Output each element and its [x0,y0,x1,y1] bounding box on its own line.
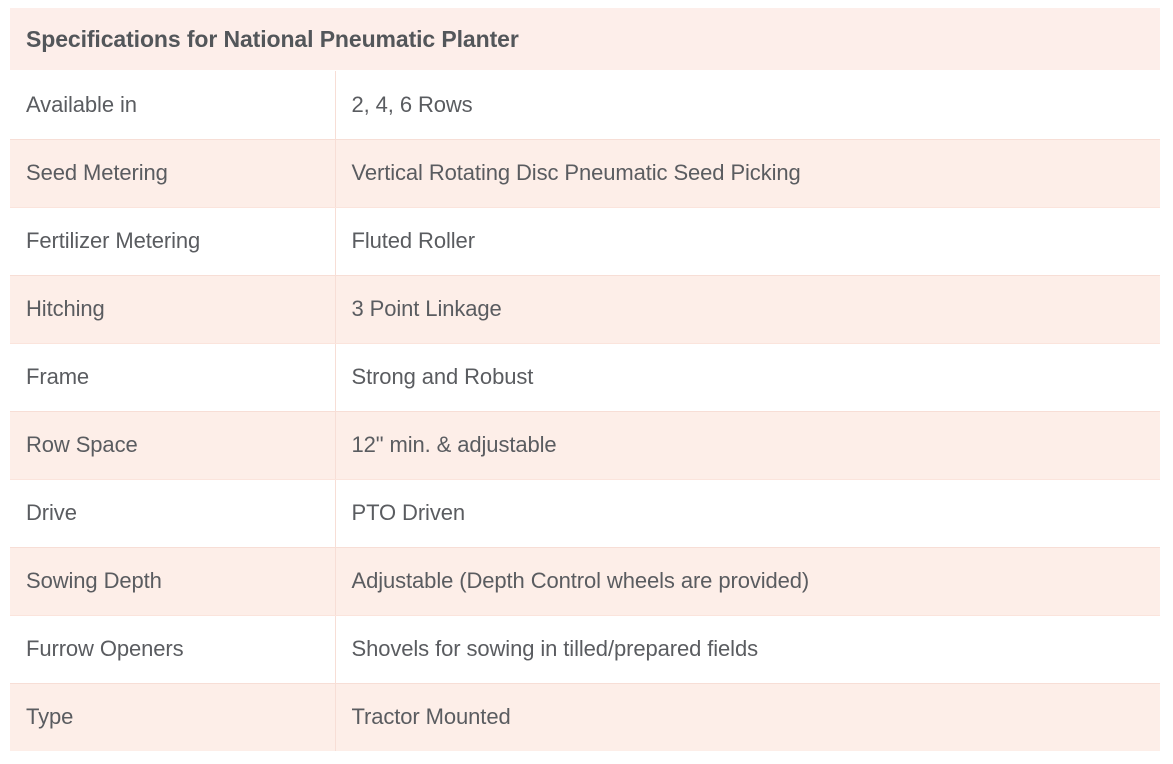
table-row: DrivePTO Driven [10,479,1160,547]
table-row: TypeTractor Mounted [10,683,1160,751]
spec-label: Frame [10,343,335,411]
specifications-table: Specifications for National Pneumatic Pl… [10,8,1160,751]
spec-label: Hitching [10,275,335,343]
spec-label: Type [10,683,335,751]
spec-label: Available in [10,71,335,139]
table-row: Row Space12" min. & adjustable [10,411,1160,479]
spec-value: Adjustable (Depth Control wheels are pro… [335,547,1160,615]
spec-value: Vertical Rotating Disc Pneumatic Seed Pi… [335,139,1160,207]
spec-label: Row Space [10,411,335,479]
spec-label: Furrow Openers [10,615,335,683]
spec-value: Shovels for sowing in tilled/prepared fi… [335,615,1160,683]
table-row: Seed MeteringVertical Rotating Disc Pneu… [10,139,1160,207]
spec-value: 12" min. & adjustable [335,411,1160,479]
spec-value: Fluted Roller [335,207,1160,275]
spec-value: 2, 4, 6 Rows [335,71,1160,139]
spec-label: Seed Metering [10,139,335,207]
spec-value: 3 Point Linkage [335,275,1160,343]
table-row: Furrow OpenersShovels for sowing in till… [10,615,1160,683]
table-row: Available in2, 4, 6 Rows [10,71,1160,139]
spec-label: Fertilizer Metering [10,207,335,275]
spec-label: Drive [10,479,335,547]
table-row: Fertilizer MeteringFluted Roller [10,207,1160,275]
spec-label: Sowing Depth [10,547,335,615]
specifications-page: Specifications for National Pneumatic Pl… [0,0,1173,764]
table-title: Specifications for National Pneumatic Pl… [10,8,1160,71]
table-row: FrameStrong and Robust [10,343,1160,411]
spec-value: PTO Driven [335,479,1160,547]
spec-value: Tractor Mounted [335,683,1160,751]
specifications-table-body: Available in2, 4, 6 RowsSeed MeteringVer… [10,71,1160,751]
table-row: Sowing DepthAdjustable (Depth Control wh… [10,547,1160,615]
spec-value: Strong and Robust [335,343,1160,411]
table-row: Hitching3 Point Linkage [10,275,1160,343]
